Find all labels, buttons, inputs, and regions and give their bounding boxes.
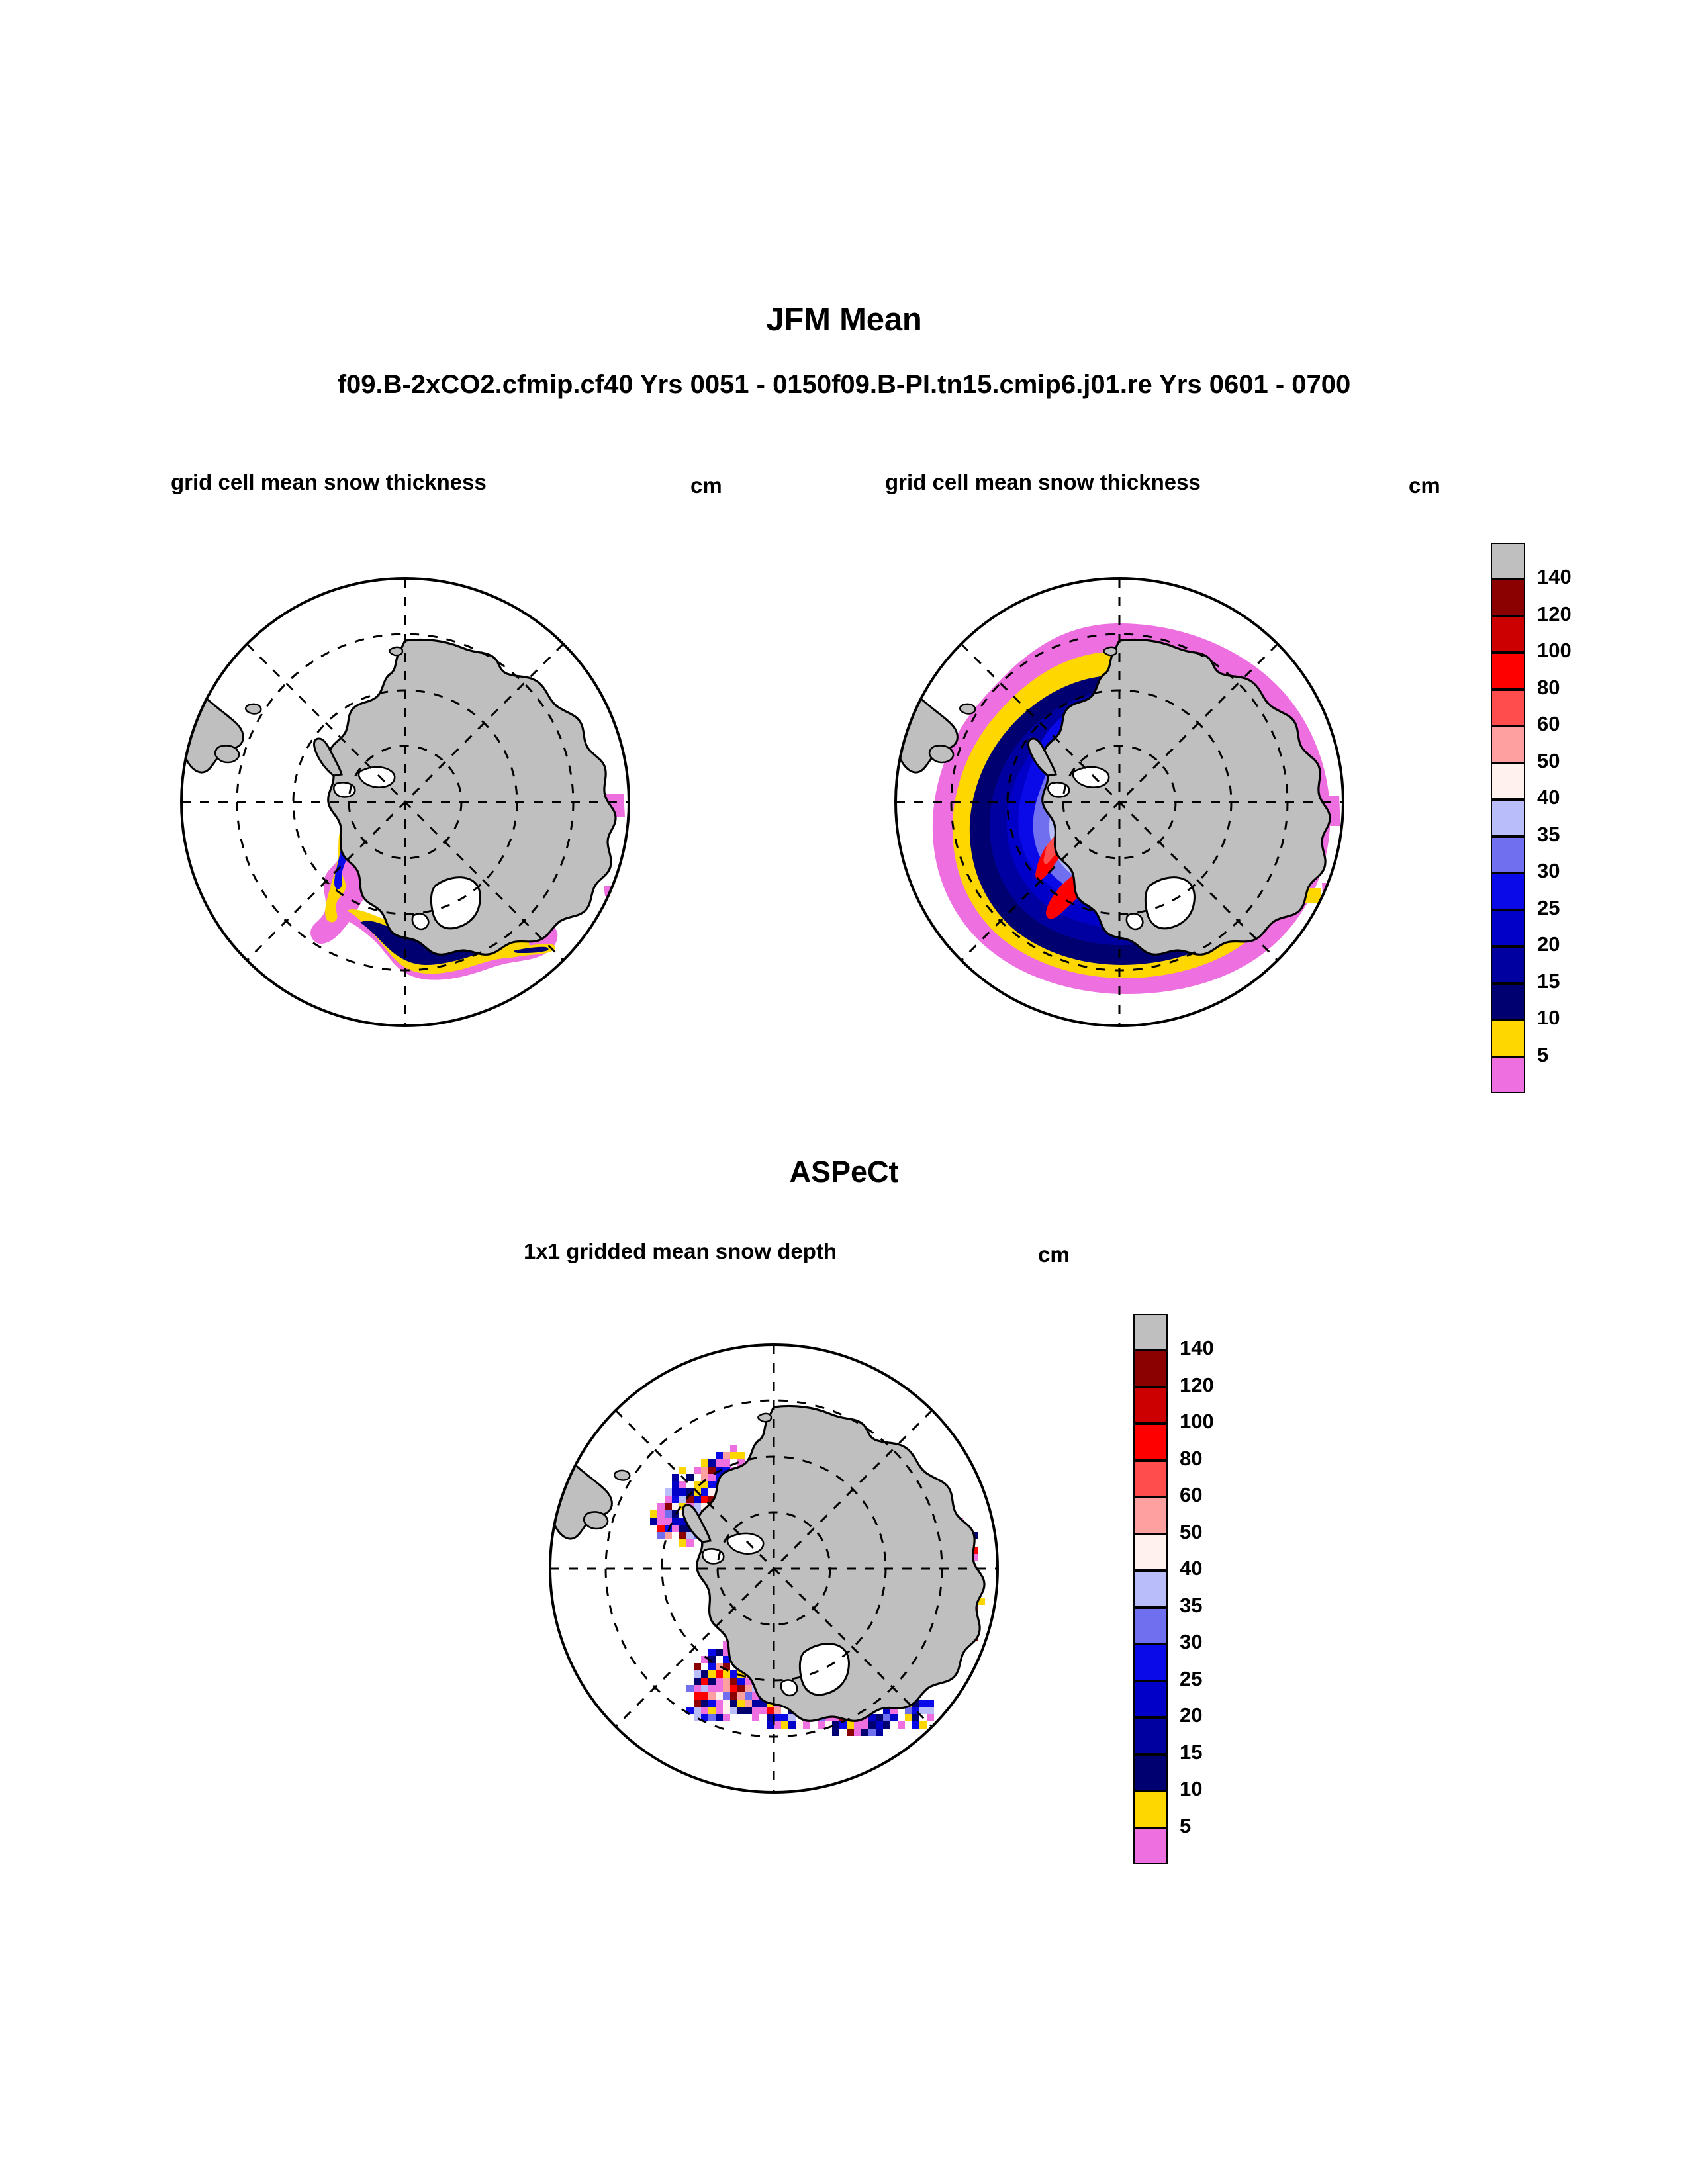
colorbar-top-tick-label: 40 bbox=[1537, 786, 1560, 809]
observation-cell bbox=[708, 1707, 716, 1714]
observation-cell bbox=[876, 1714, 883, 1721]
colorbar-bottom-band-0 bbox=[1133, 1314, 1168, 1350]
observation-cell bbox=[737, 1678, 745, 1685]
colorbar-top-tick-label: 30 bbox=[1537, 859, 1560, 883]
observation-cell bbox=[737, 1707, 745, 1714]
observation-cell bbox=[730, 1692, 737, 1700]
observation-cell bbox=[723, 1692, 730, 1700]
panel-left-units: cm bbox=[690, 473, 722, 498]
colorbar-top-band-2 bbox=[1491, 616, 1525, 653]
figure-page: JFM Mean f09.B-2xCO2.cfmip.cf40 Yrs 0051… bbox=[0, 0, 1688, 2184]
observation-cell bbox=[679, 1496, 686, 1503]
observation-cell bbox=[708, 1474, 716, 1481]
observation-cell bbox=[708, 1481, 716, 1488]
observation-cell bbox=[730, 1452, 737, 1459]
colorbar-top-band-7 bbox=[1491, 799, 1525, 836]
observation-cell bbox=[672, 1496, 679, 1503]
colorbar-top-tick-label: 120 bbox=[1537, 602, 1571, 626]
observation-cell bbox=[694, 1692, 701, 1700]
observation-cell bbox=[672, 1474, 679, 1481]
panel-left-header: grid cell mean snow thickness bbox=[171, 470, 487, 495]
colorbar-bottom-tick-label: 35 bbox=[1180, 1594, 1202, 1617]
observation-cell bbox=[774, 1707, 781, 1714]
observation-cell bbox=[657, 1510, 665, 1518]
observation-cell bbox=[919, 1700, 927, 1707]
observation-cell bbox=[774, 1721, 781, 1729]
colorbar-bottom-band-1 bbox=[1133, 1350, 1168, 1387]
colorbar-bottom-tick-label: 120 bbox=[1180, 1373, 1214, 1397]
observation-cell bbox=[876, 1729, 883, 1736]
observation-cell bbox=[708, 1692, 716, 1700]
observation-cell bbox=[745, 1707, 752, 1714]
observation-cell bbox=[723, 1685, 730, 1692]
colorbar-top-tick-label: 100 bbox=[1537, 639, 1571, 662]
colorbar-top-band-4 bbox=[1491, 690, 1525, 726]
colorbar-bottom-tick-label: 40 bbox=[1180, 1557, 1202, 1580]
observation-cell bbox=[737, 1452, 745, 1459]
colorbar-top-band-1 bbox=[1491, 579, 1525, 615]
observation-cell bbox=[694, 1678, 701, 1685]
observation-cell bbox=[657, 1532, 665, 1539]
observation-cell bbox=[694, 1670, 701, 1678]
observation-cell bbox=[730, 1445, 737, 1452]
colorbar-bottom-tick-label: 30 bbox=[1180, 1630, 1202, 1654]
observation-cell bbox=[854, 1721, 861, 1729]
observation-cell bbox=[708, 1700, 716, 1707]
observation-cell bbox=[679, 1481, 686, 1488]
observation-cell bbox=[781, 1721, 788, 1729]
observation-cell bbox=[716, 1649, 723, 1656]
observation-cell bbox=[708, 1670, 716, 1678]
observation-cell bbox=[672, 1488, 679, 1496]
observation-cell bbox=[679, 1532, 686, 1539]
colorbar-top-band-12 bbox=[1491, 983, 1525, 1020]
observation-cell bbox=[686, 1685, 694, 1692]
observation-cell bbox=[890, 1714, 898, 1721]
observation-cell bbox=[672, 1481, 679, 1488]
observation-cell bbox=[716, 1459, 723, 1467]
observation-cell bbox=[868, 1729, 876, 1736]
colorbar-top-tick-label: 5 bbox=[1537, 1043, 1548, 1067]
observation-cell bbox=[818, 1721, 825, 1729]
observation-cell bbox=[905, 1714, 912, 1721]
observation-cell bbox=[752, 1707, 759, 1714]
observation-cell bbox=[927, 1714, 934, 1721]
colorbar-bottom-band-6 bbox=[1133, 1534, 1168, 1570]
observation-cell bbox=[781, 1714, 788, 1721]
observation-cell bbox=[847, 1721, 854, 1729]
observation-cell bbox=[701, 1459, 708, 1467]
observation-cell bbox=[898, 1721, 905, 1729]
observation-cell bbox=[665, 1532, 672, 1539]
colorbar-top-tick-label: 20 bbox=[1537, 933, 1560, 956]
section-title-aspect: ASPeCt bbox=[0, 1155, 1688, 1189]
observation-cell bbox=[679, 1525, 686, 1532]
colorbar-bottom-tick-label: 25 bbox=[1180, 1667, 1202, 1691]
colorbar-bottom-band-10 bbox=[1133, 1681, 1168, 1717]
observation-cell bbox=[657, 1525, 665, 1532]
observation-cell bbox=[723, 1452, 730, 1459]
observation-cell bbox=[730, 1707, 737, 1714]
observation-cell bbox=[708, 1488, 716, 1496]
colorbar-bottom-band-9 bbox=[1133, 1644, 1168, 1680]
observation-cell bbox=[679, 1467, 686, 1474]
observation-cell bbox=[657, 1503, 665, 1510]
subtitle: f09.B-2xCO2.cfmip.cf40 Yrs 0051 - 0150f0… bbox=[0, 370, 1688, 400]
observation-cell bbox=[737, 1700, 745, 1707]
panel-right-units: cm bbox=[1409, 473, 1440, 498]
observation-cell bbox=[868, 1721, 876, 1729]
observation-cell bbox=[650, 1510, 657, 1518]
colorbar-top-tick-label: 25 bbox=[1537, 896, 1560, 920]
observation-cell bbox=[730, 1685, 737, 1692]
colorbar-top-tick-label: 50 bbox=[1537, 749, 1560, 773]
observation-cell bbox=[708, 1459, 716, 1467]
observation-cell bbox=[679, 1539, 686, 1547]
observation-cell bbox=[723, 1459, 730, 1467]
observation-cell bbox=[767, 1707, 774, 1714]
observation-cell bbox=[716, 1685, 723, 1692]
map-panel-bottom-aspect[interactable] bbox=[483, 1277, 1065, 1860]
colorbar-bottom[interactable]: 140120100806050403530252015105 bbox=[1133, 1314, 1168, 1864]
colorbar-top-tick-label: 60 bbox=[1537, 712, 1560, 736]
observation-cell bbox=[730, 1678, 737, 1685]
observation-cell bbox=[919, 1707, 927, 1714]
colorbar-top-band-10 bbox=[1491, 910, 1525, 946]
colorbar-bottom-tick-label: 60 bbox=[1180, 1483, 1202, 1507]
observation-cell bbox=[745, 1692, 752, 1700]
colorbar-top-tick-label: 15 bbox=[1537, 970, 1560, 993]
observation-cell bbox=[730, 1670, 737, 1678]
observation-cell bbox=[745, 1700, 752, 1707]
observation-cell bbox=[832, 1721, 839, 1729]
colorbar-bottom-tick-label: 100 bbox=[1180, 1410, 1214, 1433]
observation-cell bbox=[657, 1518, 665, 1525]
observation-cell bbox=[861, 1721, 868, 1729]
colorbar-bottom-band-3 bbox=[1133, 1424, 1168, 1460]
observation-cell bbox=[737, 1685, 745, 1692]
colorbar-bottom-band-13 bbox=[1133, 1791, 1168, 1827]
observation-cell bbox=[832, 1729, 839, 1736]
observation-cell bbox=[665, 1510, 672, 1518]
observation-cell bbox=[701, 1707, 708, 1714]
observation-cell bbox=[716, 1700, 723, 1707]
observation-cell bbox=[883, 1714, 890, 1721]
observation-cell bbox=[847, 1729, 854, 1736]
observation-cell bbox=[854, 1729, 861, 1736]
colorbar-bottom-band-8 bbox=[1133, 1608, 1168, 1644]
observation-cell bbox=[708, 1663, 716, 1670]
observation-cell bbox=[665, 1496, 672, 1503]
observation-cell bbox=[730, 1700, 737, 1707]
colorbar-bottom-band-12 bbox=[1133, 1754, 1168, 1791]
observation-cell bbox=[650, 1518, 657, 1525]
colorbar-bottom-band-14 bbox=[1133, 1828, 1168, 1864]
observation-cell bbox=[701, 1685, 708, 1692]
colorbar-top-band-0 bbox=[1491, 543, 1525, 579]
observation-cell bbox=[701, 1700, 708, 1707]
observation-cell bbox=[701, 1692, 708, 1700]
observation-cell bbox=[701, 1678, 708, 1685]
observation-cell bbox=[708, 1685, 716, 1692]
observation-cell bbox=[701, 1670, 708, 1678]
page-title: JFM Mean bbox=[0, 301, 1688, 338]
observation-cell bbox=[701, 1488, 708, 1496]
colorbar-top-tick-label: 140 bbox=[1537, 565, 1571, 589]
observation-cell bbox=[708, 1678, 716, 1685]
observation-cell bbox=[694, 1707, 701, 1714]
colorbar-top-tick-label: 35 bbox=[1537, 823, 1560, 846]
observation-cell bbox=[803, 1721, 810, 1729]
observation-cell bbox=[723, 1700, 730, 1707]
observation-cell bbox=[737, 1692, 745, 1700]
observation-cell bbox=[876, 1721, 883, 1729]
observation-cell bbox=[716, 1452, 723, 1459]
colorbar-top-band-14 bbox=[1491, 1057, 1525, 1093]
colorbar-top-tick-label: 10 bbox=[1537, 1006, 1560, 1030]
colorbar-bottom-band-11 bbox=[1133, 1717, 1168, 1754]
observation-cell bbox=[694, 1700, 701, 1707]
observation-cell bbox=[774, 1714, 781, 1721]
observation-cell bbox=[665, 1488, 672, 1496]
observation-cell bbox=[716, 1714, 723, 1721]
colorbar-top-band-6 bbox=[1491, 763, 1525, 799]
colorbar-top-tick-label: 80 bbox=[1537, 676, 1560, 700]
observation-cell bbox=[716, 1670, 723, 1678]
observation-cell bbox=[701, 1467, 708, 1474]
colorbar-bottom-band-7 bbox=[1133, 1570, 1168, 1607]
observation-cell bbox=[752, 1700, 759, 1707]
observation-cell bbox=[723, 1678, 730, 1685]
panel-bottom-header: 1x1 gridded mean snow depth bbox=[524, 1239, 837, 1264]
colorbar-bottom-tick-label: 140 bbox=[1180, 1336, 1214, 1360]
observation-cell bbox=[788, 1721, 796, 1729]
subtitle-left-case: f09.B-2xCO2.cfmip.cf40 Yrs 0051 - 0150 bbox=[338, 370, 831, 400]
observation-cell bbox=[708, 1714, 716, 1721]
observation-cell bbox=[701, 1496, 708, 1503]
panel-bottom-units: cm bbox=[1038, 1242, 1070, 1267]
observation-cell bbox=[912, 1714, 919, 1721]
colorbar-bottom-band-4 bbox=[1133, 1461, 1168, 1497]
colorbar-top[interactable]: 140120100806050403530252015105 bbox=[1491, 543, 1525, 1093]
observation-cell bbox=[672, 1525, 679, 1532]
observation-cell bbox=[912, 1721, 919, 1729]
colorbar-top-band-5 bbox=[1491, 726, 1525, 762]
observation-cell bbox=[767, 1721, 774, 1729]
observation-cell bbox=[861, 1729, 868, 1736]
colorbar-top-band-11 bbox=[1491, 946, 1525, 983]
colorbar-top-band-13 bbox=[1491, 1020, 1525, 1056]
colorbar-bottom-tick-label: 5 bbox=[1180, 1814, 1191, 1838]
observation-cell bbox=[686, 1539, 694, 1547]
colorbar-bottom-band-5 bbox=[1133, 1497, 1168, 1533]
observation-cell bbox=[919, 1721, 927, 1729]
observation-cell bbox=[694, 1663, 701, 1670]
observation-cell bbox=[672, 1518, 679, 1525]
observation-cell bbox=[694, 1685, 701, 1692]
observation-cell bbox=[686, 1474, 694, 1481]
colorbar-top-band-9 bbox=[1491, 873, 1525, 909]
colorbar-bottom-tick-label: 10 bbox=[1180, 1777, 1202, 1801]
observation-cell bbox=[665, 1503, 672, 1510]
colorbar-bottom-tick-label: 80 bbox=[1180, 1447, 1202, 1471]
observation-cell bbox=[752, 1714, 759, 1721]
observation-cell bbox=[723, 1714, 730, 1721]
observation-cell bbox=[716, 1692, 723, 1700]
colorbar-bottom-band-2 bbox=[1133, 1387, 1168, 1424]
observation-cell bbox=[716, 1678, 723, 1685]
observation-cell bbox=[883, 1721, 890, 1729]
colorbar-top-band-8 bbox=[1491, 837, 1525, 873]
colorbar-top-band-3 bbox=[1491, 653, 1525, 689]
observation-cell bbox=[796, 1721, 803, 1729]
observation-cell bbox=[723, 1707, 730, 1714]
observation-cell bbox=[708, 1649, 716, 1656]
colorbar-bottom-tick-label: 15 bbox=[1180, 1741, 1202, 1764]
observation-cell bbox=[723, 1670, 730, 1678]
observation-cell bbox=[927, 1700, 934, 1707]
observation-cell bbox=[716, 1707, 723, 1714]
map-panel-left-2xco2[interactable] bbox=[114, 511, 696, 1093]
observation-cell bbox=[759, 1707, 767, 1714]
observation-cell bbox=[927, 1707, 934, 1714]
observation-cell bbox=[694, 1467, 701, 1474]
map-panel-right-pi[interactable] bbox=[828, 511, 1411, 1093]
colorbar-bottom-tick-label: 20 bbox=[1180, 1704, 1202, 1727]
observation-cell bbox=[694, 1496, 701, 1503]
observation-cell bbox=[745, 1685, 752, 1692]
observation-cell bbox=[767, 1714, 774, 1721]
panel-right-header: grid cell mean snow thickness bbox=[885, 470, 1201, 495]
observation-cell bbox=[679, 1488, 686, 1496]
colorbar-bottom-tick-label: 50 bbox=[1180, 1520, 1202, 1544]
subtitle-right-case: f09.B-PI.tn15.cmip6.j01.re Yrs 0601 - 07… bbox=[831, 370, 1350, 400]
